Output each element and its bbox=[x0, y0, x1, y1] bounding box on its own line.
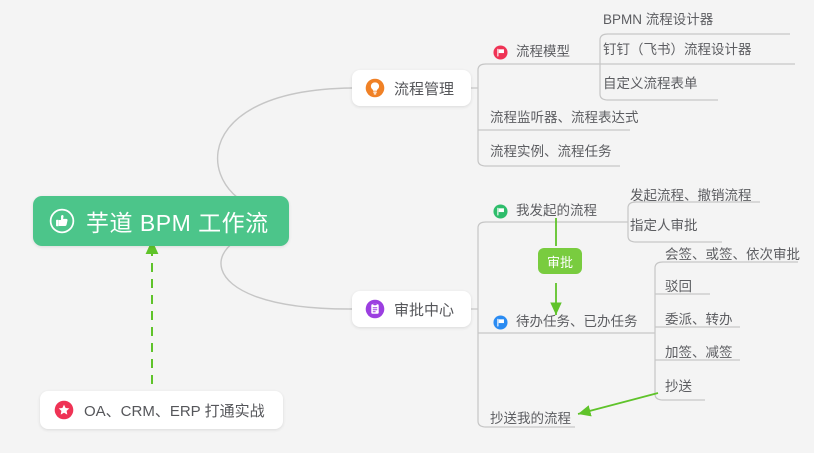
leaf-reject[interactable]: 驳回 bbox=[665, 279, 692, 298]
node-my-initiated-process[interactable]: 我发起的流程 bbox=[493, 203, 597, 222]
leaf-bpmn-designer[interactable]: BPMN 流程设计器 bbox=[603, 12, 713, 31]
leaf-assignee-approval[interactable]: 指定人审批 bbox=[630, 218, 698, 237]
node-label: 我发起的流程 bbox=[516, 203, 597, 219]
leaf-custom-process-form[interactable]: 自定义流程表单 bbox=[603, 76, 698, 95]
leaf-label: 加签、减签 bbox=[665, 345, 733, 361]
leaf-label: 委派、转办 bbox=[665, 312, 733, 328]
leaf-label: 驳回 bbox=[665, 279, 692, 295]
leaf-dingtalk-feishu-designer[interactable]: 钉钉（飞书）流程设计器 bbox=[603, 42, 752, 61]
badge-label: 审批 bbox=[547, 252, 573, 271]
flag-icon bbox=[493, 204, 508, 219]
leaf-label: 抄送 bbox=[665, 379, 692, 395]
root-node[interactable]: 芋道 BPM 工作流 bbox=[33, 196, 289, 246]
node-label: 抄送我的流程 bbox=[490, 411, 571, 427]
leaf-label: BPMN 流程设计器 bbox=[603, 12, 713, 28]
branch-node-approval-center[interactable]: 审批中心 bbox=[352, 291, 471, 327]
leaf-add-remove-sign[interactable]: 加签、减签 bbox=[665, 345, 733, 364]
node-cc-to-me-process[interactable]: 抄送我的流程 bbox=[490, 411, 571, 430]
node-process-model[interactable]: 流程模型 bbox=[493, 44, 570, 63]
leaf-carbon-copy[interactable]: 抄送 bbox=[665, 379, 692, 398]
branch-label: 审批中心 bbox=[394, 299, 454, 320]
branch-node-process-management[interactable]: 流程管理 bbox=[352, 70, 471, 106]
leaf-label: 自定义流程表单 bbox=[603, 76, 698, 92]
leaf-start-cancel-process[interactable]: 发起流程、撤销流程 bbox=[630, 188, 752, 207]
node-label: 待办任务、已办任务 bbox=[516, 314, 638, 330]
node-process-listener-expression[interactable]: 流程监听器、流程表达式 bbox=[490, 110, 639, 129]
node-process-instance-task[interactable]: 流程实例、流程任务 bbox=[490, 144, 612, 163]
badge-approval: 审批 bbox=[538, 248, 582, 274]
leaf-countersign-or-sequential[interactable]: 会签、或签、依次审批 bbox=[665, 247, 800, 266]
mindmap-canvas: 芋道 BPM 工作流 OA、CRM、ERP 打通实战 流程管理 bbox=[0, 0, 814, 453]
callout-node-oa-crm-erp[interactable]: OA、CRM、ERP 打通实战 bbox=[40, 391, 283, 429]
callout-label: OA、CRM、ERP 打通实战 bbox=[84, 400, 265, 421]
branch-label: 流程管理 bbox=[394, 78, 454, 99]
leaf-delegate-transfer[interactable]: 委派、转办 bbox=[665, 312, 733, 331]
leaf-label: 发起流程、撤销流程 bbox=[630, 188, 752, 204]
flag-icon bbox=[493, 315, 508, 330]
root-label: 芋道 BPM 工作流 bbox=[86, 204, 269, 238]
lightbulb-icon bbox=[365, 78, 385, 98]
node-label: 流程监听器、流程表达式 bbox=[490, 110, 639, 126]
flag-icon bbox=[493, 45, 508, 60]
leaf-label: 钉钉（飞书）流程设计器 bbox=[603, 42, 752, 58]
leaf-label: 指定人审批 bbox=[630, 218, 698, 234]
thumbs-up-icon bbox=[49, 208, 75, 234]
node-todo-done-tasks[interactable]: 待办任务、已办任务 bbox=[493, 314, 638, 333]
leaf-label: 会签、或签、依次审批 bbox=[665, 247, 800, 263]
clipboard-icon bbox=[365, 299, 385, 319]
star-icon bbox=[54, 400, 74, 420]
node-label: 流程模型 bbox=[516, 44, 570, 60]
node-label: 流程实例、流程任务 bbox=[490, 144, 612, 160]
